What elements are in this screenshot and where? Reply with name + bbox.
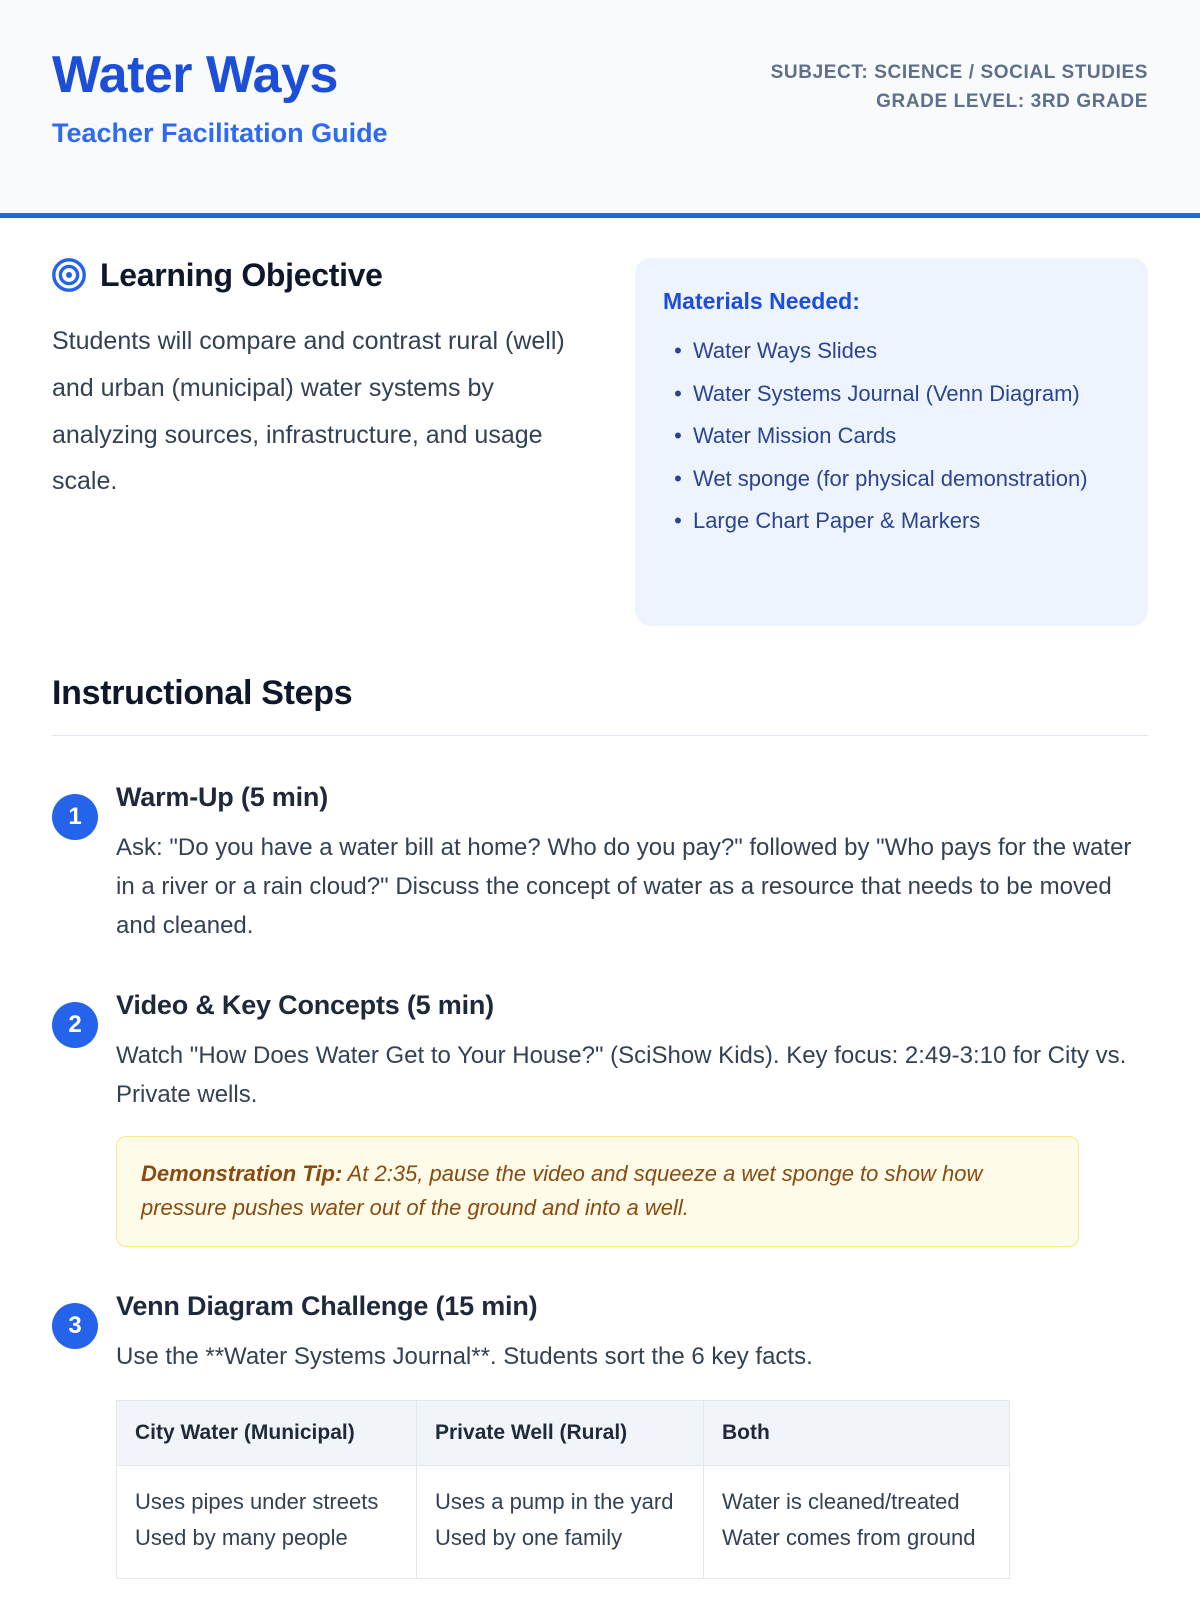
list-item-label: Water Systems Journal (Venn Diagram)	[693, 381, 1080, 406]
bullet-icon: •	[663, 335, 693, 368]
bullseye-icon	[52, 258, 86, 292]
tip-label: Demonstration Tip:	[141, 1161, 342, 1186]
bullet-icon: •	[663, 378, 693, 411]
meta-grade-level: GRADE LEVEL: 3RD GRADE	[771, 87, 1148, 116]
step-body: Venn Diagram Challenge (15 min) Use the …	[116, 1291, 1148, 1579]
step-title: Venn Diagram Challenge (15 min)	[116, 1291, 1148, 1322]
list-item: •Water Ways Slides	[663, 335, 1120, 368]
section-divider	[52, 735, 1148, 736]
document-header: Water Ways Teacher Facilitation Guide SU…	[0, 0, 1200, 218]
page-title: Water Ways	[52, 48, 388, 103]
demonstration-tip-callout: Demonstration Tip: At 2:35, pause the vi…	[116, 1136, 1079, 1246]
table-column-header: City Water (Municipal)	[117, 1401, 417, 1466]
list-item: •Large Chart Paper & Markers	[663, 505, 1120, 538]
step-number-badge: 3	[52, 1303, 98, 1349]
table-cell: Uses pipes under streets Used by many pe…	[117, 1466, 417, 1578]
list-item-label: Wet sponge (for physical demonstration)	[693, 466, 1088, 491]
table-cell-line: Used by many people	[135, 1520, 398, 1556]
table-header-row: City Water (Municipal) Private Well (Rur…	[117, 1401, 1010, 1466]
step-text: Use the **Water Systems Journal**. Stude…	[116, 1338, 1148, 1377]
bullet-icon: •	[663, 420, 693, 453]
instructional-steps-heading: Instructional Steps	[52, 674, 1148, 713]
learning-objective-title: Learning Objective	[100, 259, 383, 291]
objective-and-materials-row: Learning Objective Students will compare…	[52, 218, 1148, 626]
venn-sorting-table: City Water (Municipal) Private Well (Rur…	[116, 1400, 1010, 1578]
bullet-icon: •	[663, 505, 693, 538]
page-body: Learning Objective Students will compare…	[0, 218, 1200, 1579]
table-row: Uses pipes under streets Used by many pe…	[117, 1466, 1010, 1578]
step-text: Ask: "Do you have a water bill at home? …	[116, 829, 1148, 946]
table-cell-line: Uses pipes under streets	[135, 1484, 398, 1520]
list-item: •Water Systems Journal (Venn Diagram)	[663, 378, 1120, 411]
header-meta-block: SUBJECT: SCIENCE / SOCIAL STUDIES GRADE …	[771, 46, 1148, 117]
materials-list: •Water Ways Slides •Water Systems Journa…	[663, 335, 1120, 538]
list-item-label: Large Chart Paper & Markers	[693, 508, 980, 533]
meta-subject: SUBJECT: SCIENCE / SOCIAL STUDIES	[771, 58, 1148, 87]
page-subtitle: Teacher Facilitation Guide	[52, 119, 388, 149]
list-item-label: Water Mission Cards	[693, 423, 896, 448]
step-body: Video & Key Concepts (5 min) Watch "How …	[116, 990, 1148, 1247]
step-item-3: 3 Venn Diagram Challenge (15 min) Use th…	[52, 1291, 1148, 1579]
step-text: Watch "How Does Water Get to Your House?…	[116, 1037, 1148, 1115]
table-cell-line: Uses a pump in the yard	[435, 1484, 685, 1520]
step-item-1: 1 Warm-Up (5 min) Ask: "Do you have a wa…	[52, 782, 1148, 946]
learning-objective-text: Students will compare and contrast rural…	[52, 318, 597, 505]
header-title-block: Water Ways Teacher Facilitation Guide	[52, 46, 388, 148]
table-cell-line: Water is cleaned/treated	[722, 1484, 991, 1520]
materials-title: Materials Needed:	[663, 288, 1120, 315]
table-cell-line: Used by one family	[435, 1520, 685, 1556]
step-item-2: 2 Video & Key Concepts (5 min) Watch "Ho…	[52, 990, 1148, 1247]
tip-text-wrapper: Demonstration Tip: At 2:35, pause the vi…	[141, 1157, 1054, 1225]
list-item: •Water Mission Cards	[663, 420, 1120, 453]
step-number-badge: 2	[52, 1002, 98, 1048]
materials-card: Materials Needed: •Water Ways Slides •Wa…	[635, 258, 1148, 626]
step-number-badge: 1	[52, 794, 98, 840]
table-cell-line: Water comes from ground	[722, 1520, 991, 1556]
list-item-label: Water Ways Slides	[693, 338, 877, 363]
step-body: Warm-Up (5 min) Ask: "Do you have a wate…	[116, 782, 1148, 946]
list-item: •Wet sponge (for physical demonstration)	[663, 463, 1120, 496]
learning-objective-header: Learning Objective	[52, 258, 597, 292]
table-cell: Water is cleaned/treated Water comes fro…	[704, 1466, 1010, 1578]
table-column-header: Private Well (Rural)	[417, 1401, 704, 1466]
table-column-header: Both	[704, 1401, 1010, 1466]
step-title: Video & Key Concepts (5 min)	[116, 990, 1148, 1021]
table-cell: Uses a pump in the yard Used by one fami…	[417, 1466, 704, 1578]
learning-objective-section: Learning Objective Students will compare…	[52, 258, 597, 505]
step-title: Warm-Up (5 min)	[116, 782, 1148, 813]
bullet-icon: •	[663, 463, 693, 496]
